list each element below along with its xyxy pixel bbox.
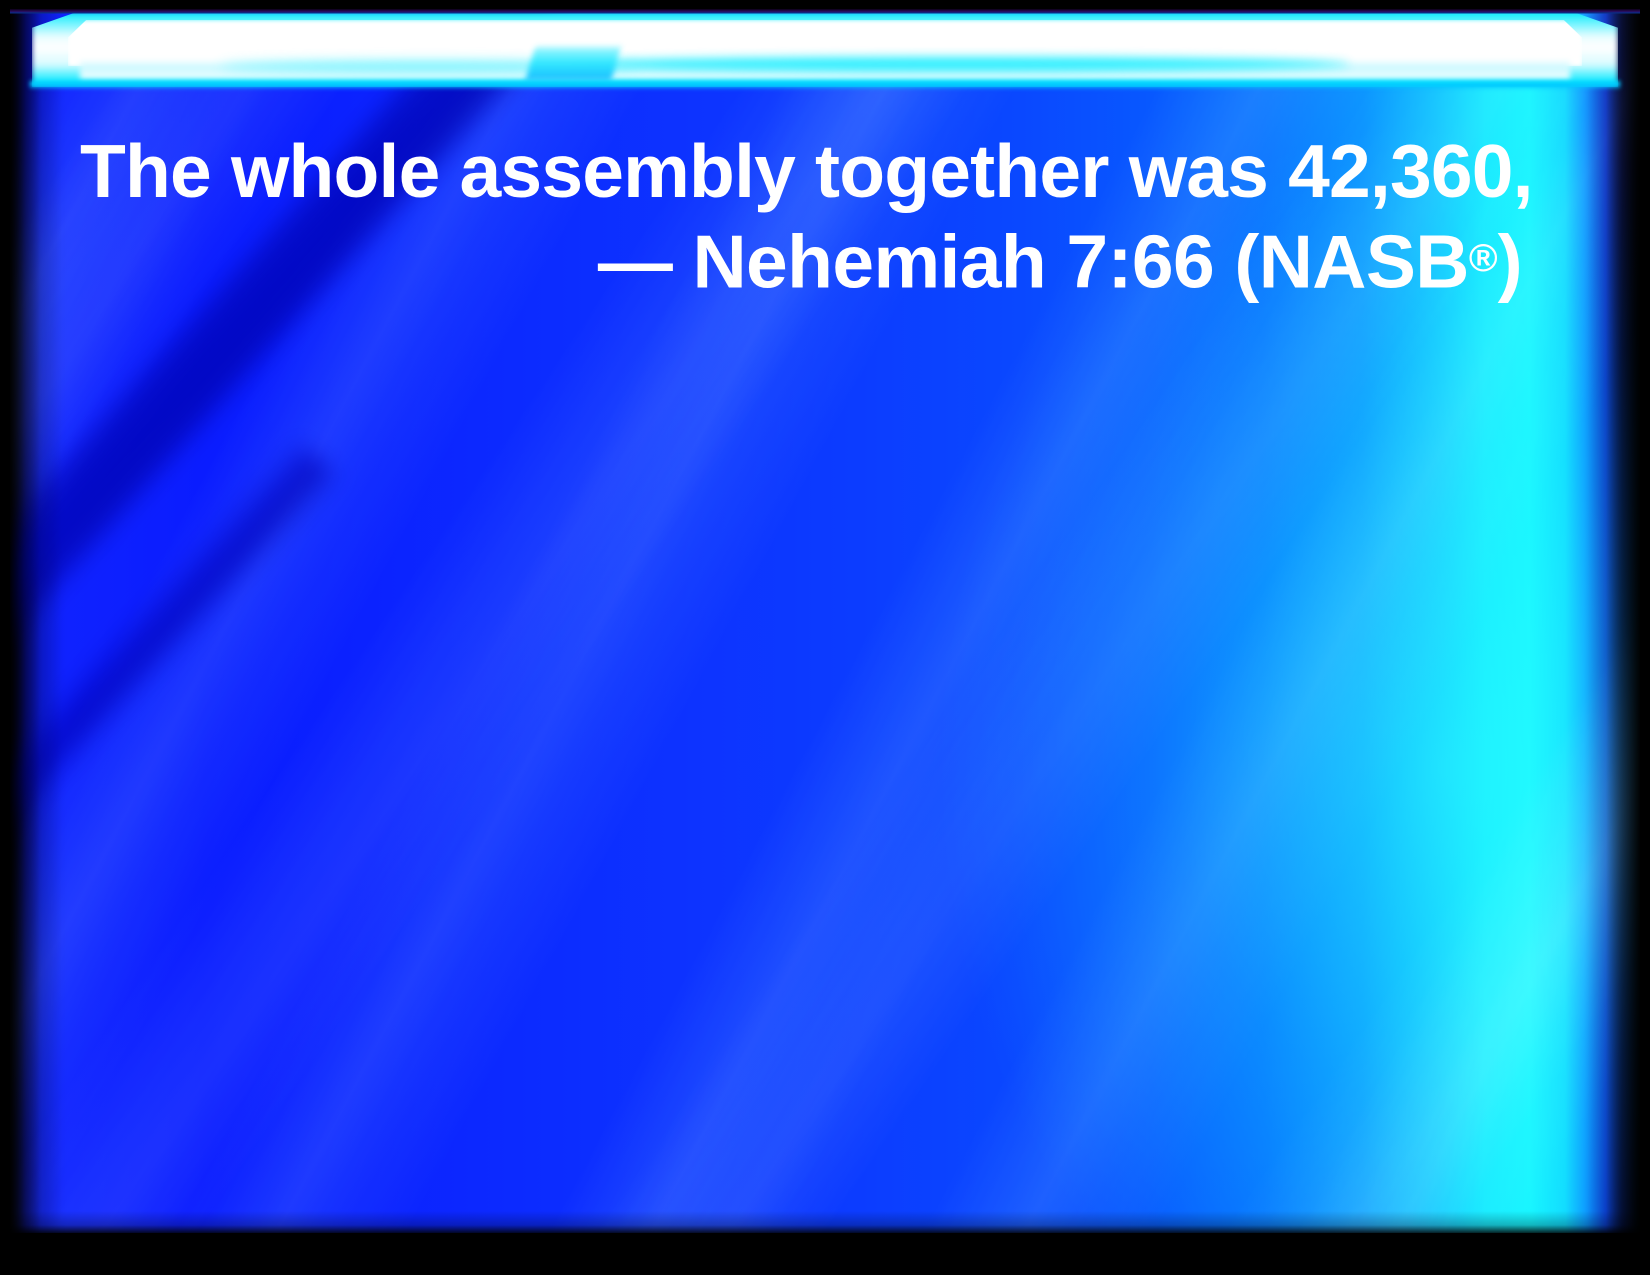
slide-artwork-panel: The whole assembly together was 42,360, … xyxy=(10,9,1640,1233)
registered-trademark-icon: ® xyxy=(1469,237,1498,280)
verse-translation: NASB xyxy=(1259,219,1469,303)
verse-text-block: The whole assembly together was 42,360, … xyxy=(80,127,1522,305)
header-band-underline xyxy=(30,81,1620,89)
verse-citation-reference: 7:66 xyxy=(1066,219,1214,303)
verse-line-2: — Nehemiah 7:66 (NASB®) xyxy=(80,215,1522,305)
verse-close-paren: ) xyxy=(1498,219,1522,303)
verse-citation-dash: — xyxy=(598,219,672,303)
header-band-notch xyxy=(525,47,621,81)
verse-open-paren: ( xyxy=(1234,219,1258,303)
verse-citation-book: Nehemiah xyxy=(692,219,1046,303)
header-band xyxy=(10,9,1640,119)
verse-line-1: The whole assembly together was 42,360, xyxy=(80,127,1522,215)
scripture-slide: The whole assembly together was 42,360, … xyxy=(0,0,1650,1275)
header-band-cyan-core xyxy=(570,57,1350,71)
header-band-hairline xyxy=(10,9,1640,14)
